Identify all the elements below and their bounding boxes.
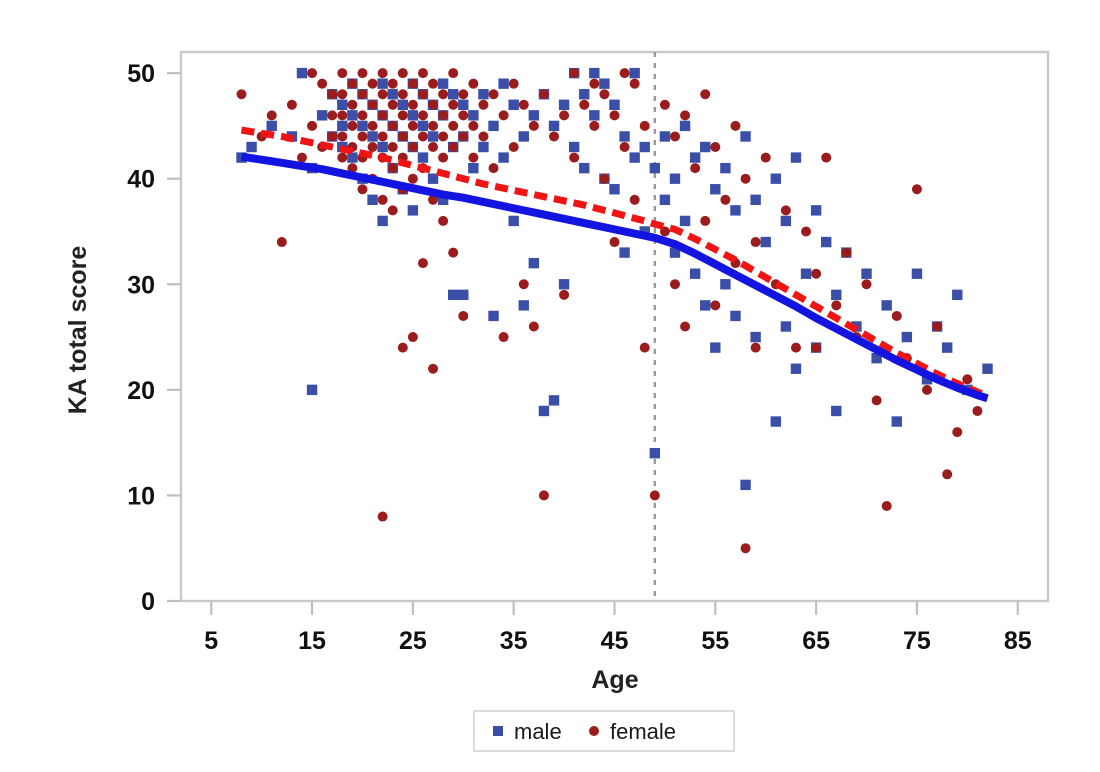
data-point [831, 290, 841, 300]
data-point [710, 300, 720, 310]
data-point [498, 78, 508, 88]
data-point [388, 205, 398, 215]
data-point [468, 121, 478, 131]
data-point [458, 290, 468, 300]
data-point [599, 78, 609, 88]
data-point [811, 205, 821, 215]
data-point [428, 79, 438, 89]
data-point [932, 322, 942, 332]
legend-label-female: female [610, 719, 676, 744]
data-point [761, 237, 771, 247]
data-point [771, 173, 781, 183]
data-point [982, 364, 992, 374]
x-tick-label: 45 [601, 627, 629, 655]
data-point [448, 89, 458, 99]
data-point [378, 110, 388, 120]
y-tick-label: 40 [127, 166, 155, 194]
data-point [801, 269, 811, 279]
data-point [448, 121, 458, 131]
data-point [398, 89, 408, 99]
data-point [952, 427, 962, 437]
data-point [438, 216, 448, 226]
data-point [690, 152, 700, 162]
data-point [418, 152, 428, 162]
data-point [468, 153, 478, 163]
data-point [660, 131, 670, 141]
data-point [347, 110, 357, 120]
data-point [690, 163, 700, 173]
data-point [317, 110, 327, 120]
data-point [357, 131, 367, 141]
data-point [680, 322, 690, 332]
x-tick-label: 35 [500, 627, 528, 655]
data-point [337, 100, 347, 110]
data-point [428, 131, 438, 141]
data-point [912, 184, 922, 194]
chart-canvas: 51525354555657585 01020304050 Age KA tot… [0, 0, 1100, 772]
data-point [660, 195, 670, 205]
data-point [811, 343, 821, 353]
data-point [589, 79, 599, 89]
data-point [367, 195, 377, 205]
data-point [337, 121, 347, 131]
data-point [579, 100, 589, 110]
data-point [630, 195, 640, 205]
data-point [529, 258, 539, 268]
data-point [448, 142, 458, 152]
x-axis-title: Age [591, 666, 638, 694]
data-point [650, 490, 660, 500]
data-point [730, 311, 740, 321]
data-point [499, 332, 509, 342]
x-tick-label: 25 [399, 627, 427, 655]
data-point [448, 100, 458, 110]
data-point [710, 184, 720, 194]
data-point [610, 237, 620, 247]
data-point [821, 237, 831, 247]
data-point [862, 279, 872, 289]
data-point [741, 543, 751, 553]
data-point [368, 121, 378, 131]
data-point [317, 79, 327, 89]
data-point [811, 269, 821, 279]
data-point [771, 416, 781, 426]
data-point [489, 163, 499, 173]
data-point [741, 174, 751, 184]
legend-box [474, 711, 734, 751]
data-point [398, 68, 408, 78]
data-point [448, 68, 458, 78]
data-point [892, 416, 902, 426]
data-point [408, 142, 418, 152]
data-point [357, 89, 367, 99]
data-point [720, 163, 730, 173]
data-point [388, 142, 398, 152]
data-point [297, 153, 307, 163]
data-point [589, 110, 599, 120]
data-point [408, 79, 418, 89]
data-point [519, 300, 529, 310]
data-point [680, 110, 690, 120]
data-point [498, 152, 508, 162]
data-point [861, 269, 871, 279]
data-point [347, 79, 357, 89]
data-point [337, 68, 347, 78]
data-point [750, 195, 760, 205]
data-point [478, 100, 488, 110]
data-point [700, 216, 710, 226]
data-point [922, 385, 932, 395]
data-point [629, 68, 639, 78]
data-point [388, 79, 398, 89]
data-point [680, 121, 690, 131]
data-point [509, 79, 519, 89]
data-point [620, 68, 630, 78]
data-point [529, 322, 539, 332]
data-point [468, 163, 478, 173]
data-point [589, 68, 599, 78]
data-point [640, 121, 650, 131]
data-point [499, 110, 509, 120]
data-point [670, 173, 680, 183]
data-point [448, 290, 458, 300]
data-point [458, 311, 468, 321]
data-point [710, 142, 720, 152]
data-point [740, 131, 750, 141]
data-point [478, 142, 488, 152]
data-point [388, 121, 398, 131]
data-point [509, 142, 519, 152]
data-point [468, 79, 478, 89]
data-point [398, 131, 408, 141]
data-point [438, 78, 448, 88]
data-point [368, 100, 378, 110]
data-point [418, 121, 428, 131]
data-point [629, 152, 639, 162]
data-point [236, 89, 246, 99]
data-point [619, 247, 629, 257]
data-point [720, 195, 730, 205]
x-tick-label: 15 [298, 627, 326, 655]
data-point [569, 153, 579, 163]
data-point [740, 480, 750, 490]
data-point [398, 110, 408, 120]
data-point [508, 216, 518, 226]
data-point [408, 174, 418, 184]
data-point [831, 300, 841, 310]
data-point [640, 343, 650, 353]
data-point [892, 311, 902, 321]
data-point [539, 490, 549, 500]
data-point [952, 290, 962, 300]
data-point [539, 406, 549, 416]
data-point [670, 131, 680, 141]
data-point [458, 89, 468, 99]
data-point [912, 269, 922, 279]
data-point [428, 142, 438, 152]
data-point [942, 469, 952, 479]
legend-marker-male [493, 726, 503, 736]
data-point [589, 121, 599, 131]
data-point [357, 68, 367, 78]
data-point [408, 100, 418, 110]
data-point [428, 121, 438, 131]
y-axis-title: KA total score [64, 246, 92, 415]
data-point [378, 89, 388, 99]
data-point [882, 501, 892, 511]
data-point [327, 131, 337, 141]
x-tick-label: 85 [1004, 627, 1032, 655]
data-point [408, 205, 418, 215]
data-point [650, 163, 660, 173]
data-point [690, 269, 700, 279]
data-point [418, 68, 428, 78]
data-point [307, 121, 317, 131]
data-point [337, 153, 347, 163]
data-point [791, 152, 801, 162]
data-point [398, 343, 408, 353]
data-point [267, 121, 277, 131]
y-tick-label: 0 [141, 588, 155, 616]
data-point [700, 142, 710, 152]
data-point [489, 89, 499, 99]
data-point [418, 110, 428, 120]
data-point [378, 131, 388, 141]
data-point [357, 121, 367, 131]
data-point [327, 110, 337, 120]
data-point [619, 131, 629, 141]
data-point [508, 100, 518, 110]
data-point [519, 100, 529, 110]
data-point [579, 89, 589, 99]
data-point [368, 142, 378, 152]
data-point [438, 110, 448, 120]
data-point [408, 121, 418, 131]
data-point [670, 279, 680, 289]
data-point [750, 332, 760, 342]
data-point [287, 100, 297, 110]
data-point [630, 79, 640, 89]
data-point [599, 174, 609, 184]
data-point [388, 89, 398, 99]
data-point [377, 142, 387, 152]
data-point [246, 142, 256, 152]
data-point [609, 100, 619, 110]
legend-label-male: male [514, 719, 562, 744]
data-point [378, 512, 388, 522]
data-point [519, 131, 529, 141]
data-point [882, 300, 892, 310]
data-point [549, 395, 559, 405]
data-point [438, 153, 448, 163]
data-point [801, 226, 811, 236]
data-point [418, 131, 428, 141]
y-tick-label: 50 [127, 60, 155, 88]
data-point [408, 332, 418, 342]
data-point [377, 216, 387, 226]
data-point [347, 121, 357, 131]
y-tick-label: 10 [127, 482, 155, 510]
scatter-chart: 51525354555657585 01020304050 Age KA tot… [0, 0, 1100, 772]
data-point [680, 216, 690, 226]
data-point [327, 89, 337, 99]
data-point [710, 342, 720, 352]
data-point [347, 100, 357, 110]
x-tick-label: 65 [802, 627, 830, 655]
data-point [559, 290, 569, 300]
data-point [539, 89, 549, 99]
data-point [438, 131, 448, 141]
data-point [468, 110, 478, 120]
data-point [730, 121, 740, 131]
data-point [761, 153, 771, 163]
data-point [579, 163, 589, 173]
data-point [337, 131, 347, 141]
data-point [781, 321, 791, 331]
data-point [559, 110, 569, 120]
x-tick-label: 75 [903, 627, 931, 655]
data-point [610, 110, 620, 120]
data-point [428, 100, 438, 110]
data-point [488, 311, 498, 321]
data-point [751, 237, 761, 247]
data-point [821, 153, 831, 163]
data-point [478, 131, 488, 141]
data-point [549, 121, 559, 131]
data-point [458, 110, 468, 120]
y-tick-label: 30 [127, 271, 155, 299]
data-point [609, 184, 619, 194]
data-point [599, 89, 609, 99]
data-point [478, 89, 488, 99]
data-point [791, 343, 801, 353]
data-point [751, 343, 761, 353]
data-point [388, 100, 398, 110]
data-point [357, 110, 367, 120]
data-point [378, 195, 388, 205]
data-point [388, 163, 398, 173]
data-point [640, 142, 650, 152]
data-point [569, 142, 579, 152]
data-point [549, 131, 559, 141]
legend-marker-female [589, 726, 599, 736]
data-point [267, 110, 277, 120]
data-point [529, 121, 539, 131]
data-point [367, 131, 377, 141]
data-point [559, 100, 569, 110]
data-point [357, 184, 367, 194]
data-point [519, 279, 529, 289]
data-point [902, 332, 912, 342]
data-point [781, 216, 791, 226]
data-point [438, 89, 448, 99]
data-point [378, 68, 388, 78]
data-point [488, 121, 498, 131]
data-point [277, 237, 287, 247]
data-point [377, 78, 387, 88]
data-point [730, 205, 740, 215]
data-point [700, 89, 710, 99]
data-point [428, 364, 438, 374]
data-point [660, 100, 670, 110]
data-point [307, 385, 317, 395]
data-point [307, 68, 317, 78]
data-point [781, 205, 791, 215]
data-point [620, 142, 630, 152]
data-point [368, 79, 378, 89]
data-point [529, 110, 539, 120]
data-point [720, 279, 730, 289]
data-point [650, 448, 660, 458]
data-point [942, 342, 952, 352]
data-point [569, 68, 579, 78]
chart-legend: malefemale [474, 711, 734, 751]
data-point [337, 110, 347, 120]
data-point [700, 300, 710, 310]
data-point [337, 89, 347, 99]
y-tick-label: 20 [127, 377, 155, 405]
x-tick-label: 5 [204, 627, 218, 655]
data-point [791, 364, 801, 374]
data-point [831, 406, 841, 416]
data-point [458, 100, 468, 110]
data-point [972, 406, 982, 416]
data-point [559, 279, 569, 289]
data-point [841, 248, 851, 258]
data-point [458, 131, 468, 141]
data-point [408, 110, 418, 120]
data-point [398, 100, 408, 110]
chart-background [0, 0, 1100, 772]
data-point [297, 68, 307, 78]
data-point [418, 258, 428, 268]
x-tick-label: 55 [701, 627, 729, 655]
data-point [448, 248, 458, 258]
data-point [418, 89, 428, 99]
data-point [872, 395, 882, 405]
